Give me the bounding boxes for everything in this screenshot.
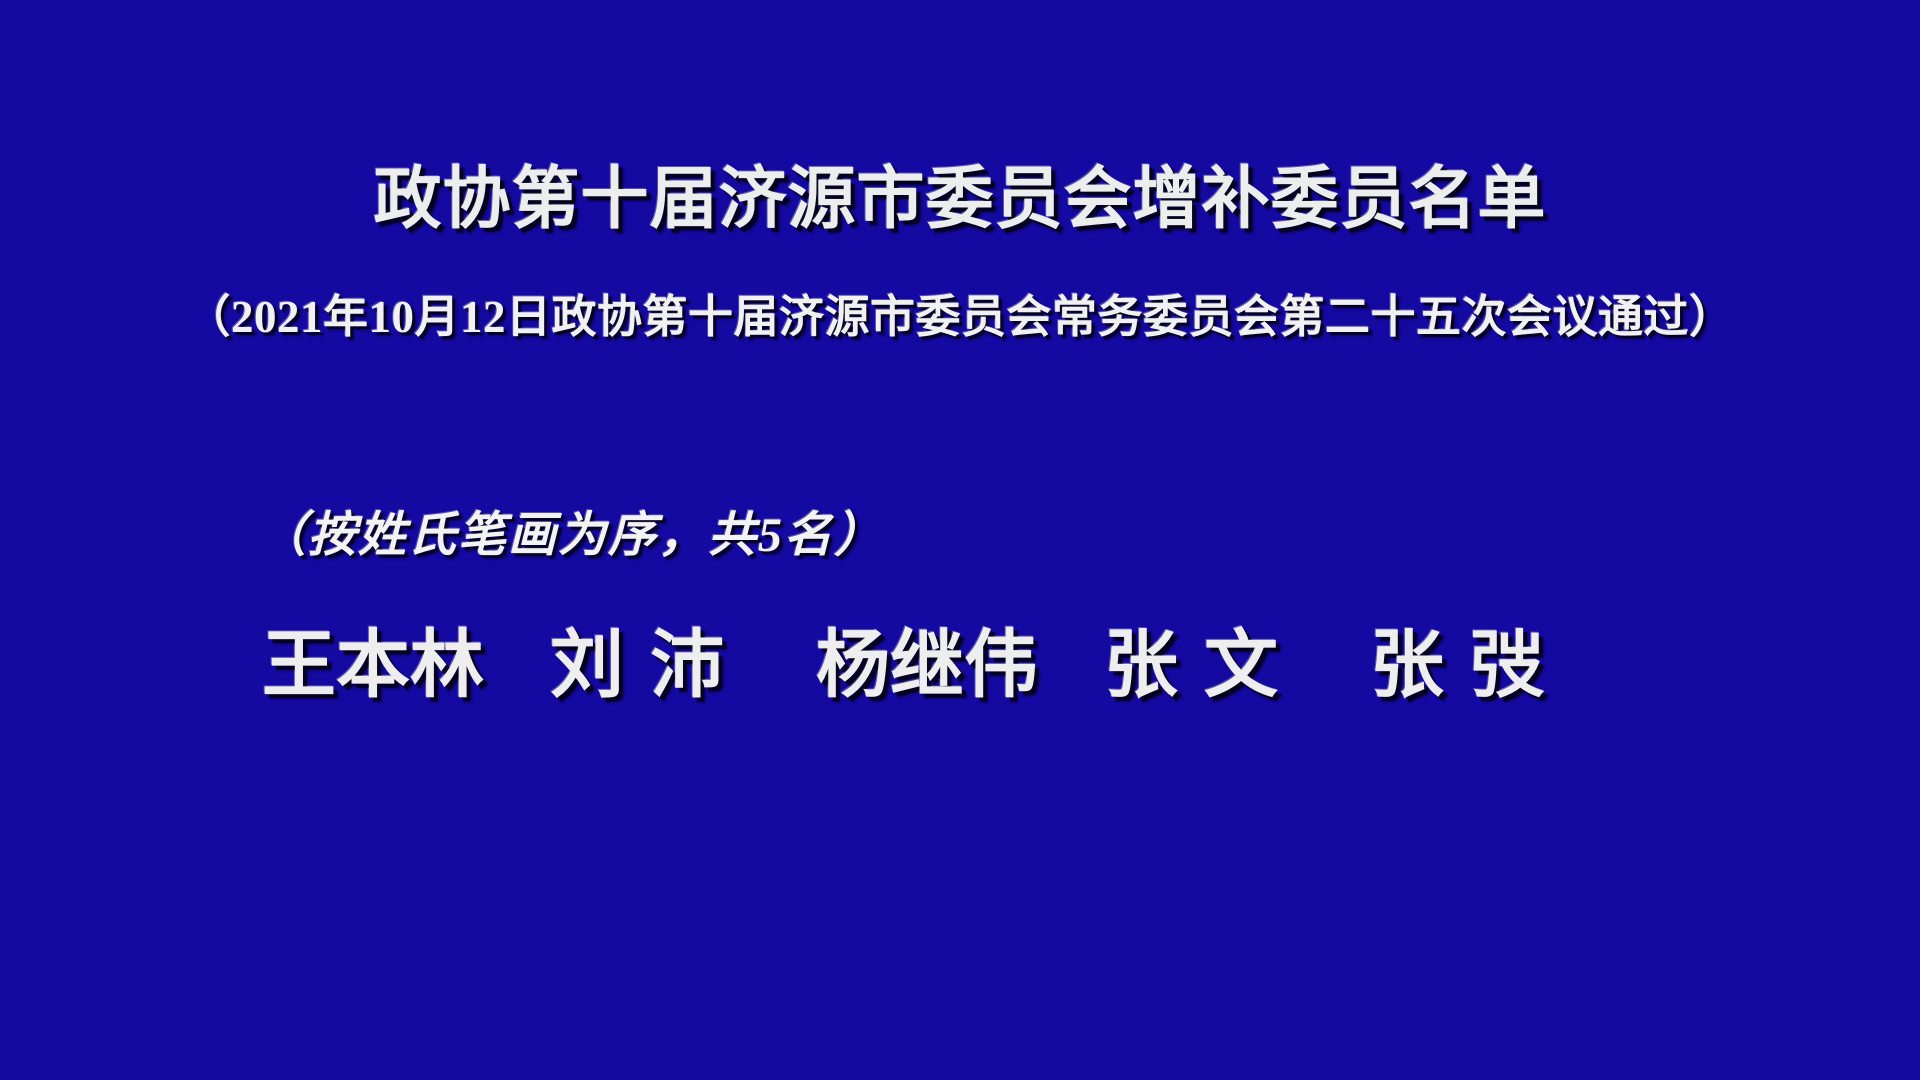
page-title: 政协第十届济源市委员会增补委员名单 — [373, 166, 1546, 234]
name-list: 王本林 刘沛 杨继伟 张文 张弢 — [262, 628, 1570, 702]
slide-canvas: 政协第十届济源市委员会增补委员名单 （2021年10月12日政协第十届济源市委员… — [0, 0, 1920, 1080]
list-item: 杨继伟 — [816, 628, 1038, 702]
list-item: 张文 — [1104, 628, 1304, 702]
list-item: 刘沛 — [550, 628, 750, 702]
page-subtitle: （2021年10月12日政协第十届济源市委员会常务委员会第二十五次会议通过） — [185, 295, 1734, 340]
list-item: 王本林 — [262, 628, 484, 702]
list-item: 张弢 — [1370, 628, 1570, 702]
ordering-note: （按姓氏笔画为序，共5名） — [258, 512, 884, 560]
page-title-row: 政协第十届济源市委员会增补委员名单 — [0, 120, 1920, 279]
page-subtitle-row: （2021年10月12日政协第十届济源市委员会常务委员会第二十五次会议通过） — [0, 295, 1920, 340]
ordering-note-row: （按姓氏笔画为序，共5名） — [258, 512, 884, 560]
